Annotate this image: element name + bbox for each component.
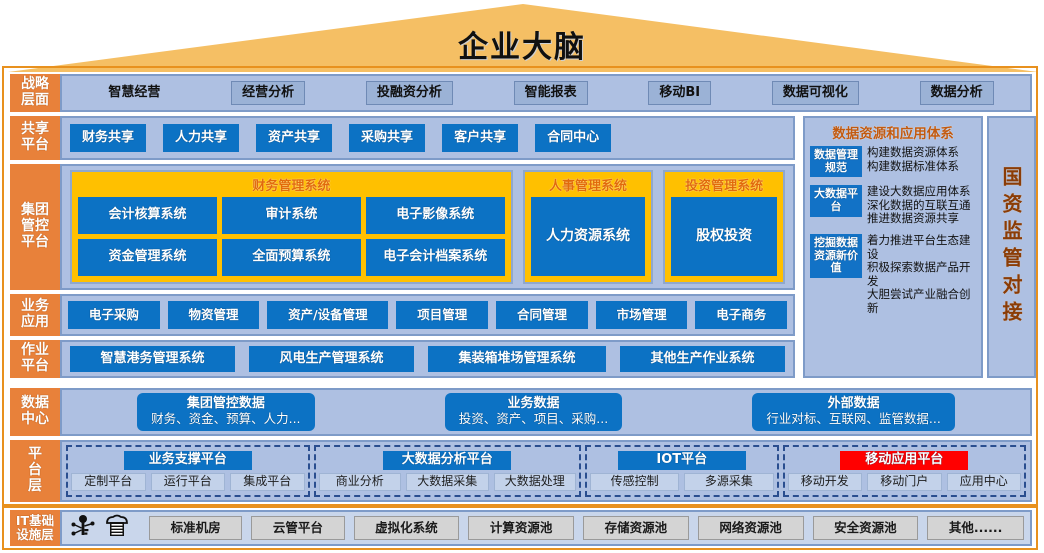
data-center-item-sub: 投资、资产、项目、采购... bbox=[459, 412, 608, 426]
data-center-item[interactable]: 外部数据行业对标、互联网、监管数据... bbox=[752, 393, 954, 431]
data-resource-title: 数据资源和应用体系 bbox=[810, 122, 976, 142]
finance-item-grid: 会计核算系统审计系统电子影像系统资金管理系统全面预算系统电子会计档案系统 bbox=[78, 197, 505, 276]
layer-label-line: 共享 bbox=[21, 122, 49, 138]
architecture-diagram: 企业大脑 战略 层面 智慧经营经营分析投融资分析智能报表移动BI数据可视化数据分… bbox=[0, 0, 1044, 553]
finance-system-item[interactable]: 电子影像系统 bbox=[366, 197, 505, 234]
layer-strategy-body: 智慧经营经营分析投融资分析智能报表移动BI数据可视化数据分析 bbox=[60, 74, 1032, 112]
box-title: 人事管理系统 bbox=[531, 175, 646, 194]
data-resource-text-line: 积极探索数据产品开发 bbox=[867, 261, 976, 288]
shared-platform-item[interactable]: 资产共享 bbox=[256, 124, 332, 152]
platform-sub-item[interactable]: 定制平台 bbox=[71, 473, 146, 491]
layer-platform: 平 台 层 业务支撑平台定制平台运行平台集成平台大数据分析平台商业分析大数据采集… bbox=[10, 440, 1032, 502]
layer-label-line: 层 bbox=[28, 479, 42, 495]
layer-label-line: 管控 bbox=[21, 219, 49, 235]
layer-operation-platform: 作业 平台 智慧港务管理系统风电生产管理系统集装箱堆场管理系统其他生产作业系统 bbox=[10, 340, 1032, 378]
strategy-item[interactable]: 投融资分析 bbox=[366, 81, 453, 105]
data-resource-text-line: 着力推进平台生态建设 bbox=[867, 234, 976, 261]
operation-system-item[interactable]: 其他生产作业系统 bbox=[620, 346, 785, 372]
platform-group-items: 移动开发移动门户应用中心 bbox=[788, 473, 1022, 491]
layer-label-line: 平 bbox=[28, 447, 42, 463]
platform-group-title[interactable]: 大数据分析平台 bbox=[383, 451, 511, 470]
strategy-item[interactable]: 移动BI bbox=[648, 81, 711, 105]
layer-label-line: 业务 bbox=[21, 299, 49, 315]
strategy-item[interactable]: 数据分析 bbox=[920, 81, 994, 105]
finance-management-system-box: 财务管理系统 会计核算系统审计系统电子影像系统资金管理系统全面预算系统电子会计档… bbox=[70, 170, 513, 284]
hr-item-grid: 人力资源系统 bbox=[531, 197, 646, 276]
investment-system-item[interactable]: 股权投资 bbox=[671, 197, 777, 276]
it-infra-item[interactable]: 标准机房 bbox=[149, 516, 242, 540]
operation-system-item[interactable]: 智慧港务管理系统 bbox=[70, 346, 235, 372]
page-title: 企业大脑 bbox=[0, 22, 1044, 66]
title-banner: 企业大脑 bbox=[0, 0, 1044, 72]
data-resource-text-line: 构建数据标准体系 bbox=[867, 160, 959, 174]
network-key-icon bbox=[70, 514, 96, 542]
national-supervision-bar: 国资监管对接 bbox=[987, 116, 1036, 378]
platform-group: 移动应用平台移动开发移动门户应用中心 bbox=[783, 445, 1027, 497]
operation-system-item[interactable]: 风电生产管理系统 bbox=[249, 346, 414, 372]
platform-group-title[interactable]: IOT平台 bbox=[618, 451, 746, 470]
layer-label-group-control: 集团 管控 平台 bbox=[10, 164, 60, 290]
data-resource-text-line: 构建数据资源体系 bbox=[867, 146, 959, 160]
data-center-list: 集团管控数据财务、资金、预算、人力...业务数据投资、资产、项目、采购...外部… bbox=[60, 388, 1032, 436]
business-app-item[interactable]: 合同管理 bbox=[496, 301, 588, 329]
strategy-item[interactable]: 经营分析 bbox=[231, 81, 305, 105]
platform-group-items: 定制平台运行平台集成平台 bbox=[71, 473, 305, 491]
layer-label-operations: 作业 平台 bbox=[10, 340, 60, 378]
layer-label-business-apps: 业务 应用 bbox=[10, 294, 60, 336]
data-center-item[interactable]: 业务数据投资、资产、项目、采购... bbox=[445, 393, 622, 431]
platform-group-list: 业务支撑平台定制平台运行平台集成平台大数据分析平台商业分析大数据采集大数据处理I… bbox=[60, 440, 1032, 502]
data-resource-text-line: 推进数据资源共享 bbox=[867, 212, 971, 226]
layer-it-infrastructure: IT基础 设施层 bbox=[10, 510, 1032, 546]
shared-item-list: 财务共享人力共享资产共享采购共享客户共享合同中心 bbox=[60, 116, 795, 160]
layer-label-line: 设施层 bbox=[16, 528, 54, 542]
data-center-item[interactable]: 集团管控数据财务、资金、预算、人力... bbox=[137, 393, 314, 431]
investment-item-grid: 股权投资 bbox=[671, 197, 777, 276]
layer-label-line: 台 bbox=[28, 463, 42, 479]
it-infra-body: 标准机房云管平台虚拟化系统计算资源池存储资源池网络资源池安全资源池其他.....… bbox=[60, 510, 1032, 546]
data-resource-tag[interactable]: 大数据平台 bbox=[810, 185, 862, 216]
layer-business-applications: 业务 应用 电子采购物资管理资产/设备管理项目管理合同管理市场管理电子商务 bbox=[10, 294, 1032, 336]
platform-sub-item[interactable]: 大数据采集 bbox=[406, 473, 489, 491]
platform-sub-item[interactable]: 商业分析 bbox=[319, 473, 402, 491]
layer-label-line: 平台 bbox=[21, 235, 49, 251]
data-center-item-sub: 行业对标、互联网、监管数据... bbox=[766, 412, 940, 426]
layer-label-line: 层面 bbox=[21, 93, 49, 109]
finance-system-item[interactable]: 全面预算系统 bbox=[222, 239, 361, 276]
layer-label-line: 应用 bbox=[21, 315, 49, 331]
platform-sub-item[interactable]: 多源采集 bbox=[684, 473, 773, 491]
business-app-item[interactable]: 电子采购 bbox=[68, 301, 160, 329]
layer-label-platform: 平 台 层 bbox=[10, 440, 60, 502]
business-app-item[interactable]: 电子商务 bbox=[695, 301, 787, 329]
platform-sub-item[interactable]: 移动门户 bbox=[867, 473, 942, 491]
layer-label-line: 平台 bbox=[21, 359, 49, 375]
data-center-item-sub: 财务、资金、预算、人力... bbox=[151, 412, 300, 426]
finance-system-item[interactable]: 会计核算系统 bbox=[78, 197, 217, 234]
hr-system-item[interactable]: 人力资源系统 bbox=[531, 197, 646, 276]
platform-group-title[interactable]: 移动应用平台 bbox=[840, 451, 968, 470]
investment-management-system-box: 投资管理系统 股权投资 bbox=[663, 170, 785, 284]
it-infra-item[interactable]: 计算资源池 bbox=[468, 516, 574, 540]
operation-system-item[interactable]: 集装箱堆场管理系统 bbox=[428, 346, 606, 372]
layer-label-it-infra: IT基础 设施层 bbox=[10, 510, 60, 546]
platform-sub-item[interactable]: 大数据处理 bbox=[494, 473, 577, 491]
operation-system-list: 智慧港务管理系统风电生产管理系统集装箱堆场管理系统其他生产作业系统 bbox=[60, 340, 795, 378]
strategy-item-list: 智慧经营经营分析投融资分析智能报表移动BI数据可视化数据分析 bbox=[68, 81, 1024, 105]
layer-label-line: 平台 bbox=[21, 138, 49, 154]
it-infra-item[interactable]: 网络资源池 bbox=[698, 516, 804, 540]
layer-label-line: 集团 bbox=[21, 203, 49, 219]
business-app-item[interactable]: 项目管理 bbox=[396, 301, 488, 329]
data-resource-tag[interactable]: 挖掘数据资源新价值 bbox=[810, 234, 862, 278]
data-resource-panel: 数据资源和应用体系 数据管理规范构建数据资源体系构建数据标准体系大数据平台建设大… bbox=[803, 116, 983, 378]
data-resource-text-line: 深化数据的互联互通 bbox=[867, 199, 971, 213]
it-infra-item[interactable]: 虚拟化系统 bbox=[354, 516, 460, 540]
cloud-server-icon bbox=[102, 514, 132, 542]
platform-group-items: 传感控制多源采集 bbox=[590, 473, 773, 491]
box-title: 财务管理系统 bbox=[78, 175, 505, 194]
it-infra-item[interactable]: 存储资源池 bbox=[583, 516, 689, 540]
shared-platform-item[interactable]: 财务共享 bbox=[70, 124, 146, 152]
strategy-item[interactable]: 数据可视化 bbox=[772, 81, 859, 105]
layer-label-line: 战略 bbox=[21, 77, 49, 93]
data-resource-text: 构建数据资源体系构建数据标准体系 bbox=[862, 146, 959, 173]
platform-sub-item[interactable]: 运行平台 bbox=[151, 473, 226, 491]
data-resource-text: 建设大数据应用体系深化数据的互联互通推进数据资源共享 bbox=[862, 185, 971, 226]
business-app-item[interactable]: 市场管理 bbox=[596, 301, 688, 329]
shared-platform-item[interactable]: 人力共享 bbox=[163, 124, 239, 152]
platform-sub-item[interactable]: 集成平台 bbox=[230, 473, 305, 491]
platform-group-title[interactable]: 业务支撑平台 bbox=[124, 451, 252, 470]
platform-sub-item[interactable]: 移动开发 bbox=[788, 473, 863, 491]
it-infra-item[interactable]: 其他...... bbox=[927, 516, 1024, 540]
layer-label-line: 作业 bbox=[21, 343, 49, 359]
layer-data-center: 数据 中心 集团管控数据财务、资金、预算、人力...业务数据投资、资产、项目、采… bbox=[10, 388, 1032, 436]
layer-label-shared: 共享 平台 bbox=[10, 116, 60, 160]
layer-label-line: 中心 bbox=[21, 412, 49, 428]
layer-label-strategy: 战略 层面 bbox=[10, 74, 60, 112]
data-resource-row: 数据管理规范构建数据资源体系构建数据标准体系 bbox=[810, 146, 976, 177]
layer-label-data-center: 数据 中心 bbox=[10, 388, 60, 436]
platform-group: IOT平台传感控制多源采集 bbox=[585, 445, 778, 497]
layer-strategy: 战略 层面 智慧经营经营分析投融资分析智能报表移动BI数据可视化数据分析 bbox=[10, 74, 1032, 112]
strategy-item[interactable]: 智能报表 bbox=[514, 81, 588, 105]
it-infra-item[interactable]: 云管平台 bbox=[251, 516, 344, 540]
group-control-body: 财务管理系统 会计核算系统审计系统电子影像系统资金管理系统全面预算系统电子会计档… bbox=[60, 164, 795, 290]
platform-group: 业务支撑平台定制平台运行平台集成平台 bbox=[66, 445, 310, 497]
it-infra-item[interactable]: 安全资源池 bbox=[813, 516, 919, 540]
box-title: 投资管理系统 bbox=[671, 175, 777, 194]
platform-sub-item[interactable]: 应用中心 bbox=[947, 473, 1022, 491]
layer-label-line: 数据 bbox=[21, 396, 49, 412]
business-app-item[interactable]: 资产/设备管理 bbox=[267, 301, 388, 329]
data-resource-row-list: 数据管理规范构建数据资源体系构建数据标准体系大数据平台建设大数据应用体系深化数据… bbox=[810, 146, 976, 315]
shared-platform-item[interactable]: 客户共享 bbox=[442, 124, 518, 152]
finance-system-item[interactable]: 审计系统 bbox=[222, 197, 361, 234]
shared-platform-item[interactable]: 采购共享 bbox=[349, 124, 425, 152]
data-resource-tag[interactable]: 数据管理规范 bbox=[810, 146, 862, 177]
business-app-list: 电子采购物资管理资产/设备管理项目管理合同管理市场管理电子商务 bbox=[60, 294, 795, 336]
platform-sub-item[interactable]: 传感控制 bbox=[590, 473, 679, 491]
data-resource-text-line: 建设大数据应用体系 bbox=[867, 185, 971, 199]
finance-system-item[interactable]: 资金管理系统 bbox=[78, 239, 217, 276]
platform-group: 大数据分析平台商业分析大数据采集大数据处理 bbox=[314, 445, 582, 497]
business-app-item[interactable]: 物资管理 bbox=[168, 301, 260, 329]
it-infra-item-list: 标准机房云管平台虚拟化系统计算资源池存储资源池网络资源池安全资源池其他.....… bbox=[149, 516, 1024, 540]
finance-system-item[interactable]: 电子会计档案系统 bbox=[366, 239, 505, 276]
hr-management-system-box: 人事管理系统 人力资源系统 bbox=[523, 170, 654, 284]
platform-group-items: 商业分析大数据采集大数据处理 bbox=[319, 473, 577, 491]
it-infra-icon-group bbox=[68, 514, 140, 542]
shared-platform-item[interactable]: 合同中心 bbox=[535, 124, 611, 152]
data-resource-row: 大数据平台建设大数据应用体系深化数据的互联互通推进数据资源共享 bbox=[810, 185, 976, 226]
layer-label-line: IT基础 bbox=[16, 514, 54, 528]
strategy-item[interactable]: 智慧经营 bbox=[98, 81, 170, 105]
